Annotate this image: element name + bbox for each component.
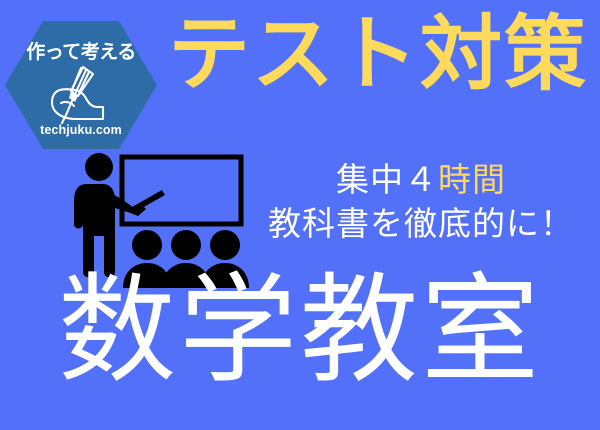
- logo-tagline: 作って考える: [5, 37, 157, 64]
- poster-canvas: 作って考える techjuku.com テスト対策: [0, 0, 600, 430]
- page-title: テスト対策: [168, 14, 588, 96]
- subcopy-line-1-accent: 時間: [438, 161, 506, 198]
- subcopy-line-2: 教科書を徹底的に！: [246, 202, 596, 246]
- subcopy-line-1-plain: 集中４: [336, 161, 438, 198]
- logo-domain-text: techjuku.com: [5, 123, 157, 137]
- subcopy-line-1: 集中４時間: [246, 158, 596, 202]
- subcopy-block: 集中４時間 教科書を徹底的に！: [246, 158, 596, 245]
- logo-badge: 作って考える techjuku.com: [5, 21, 157, 149]
- bottom-headline: 数学教室: [0, 272, 600, 390]
- hand-holding-pen-icon: [45, 65, 117, 127]
